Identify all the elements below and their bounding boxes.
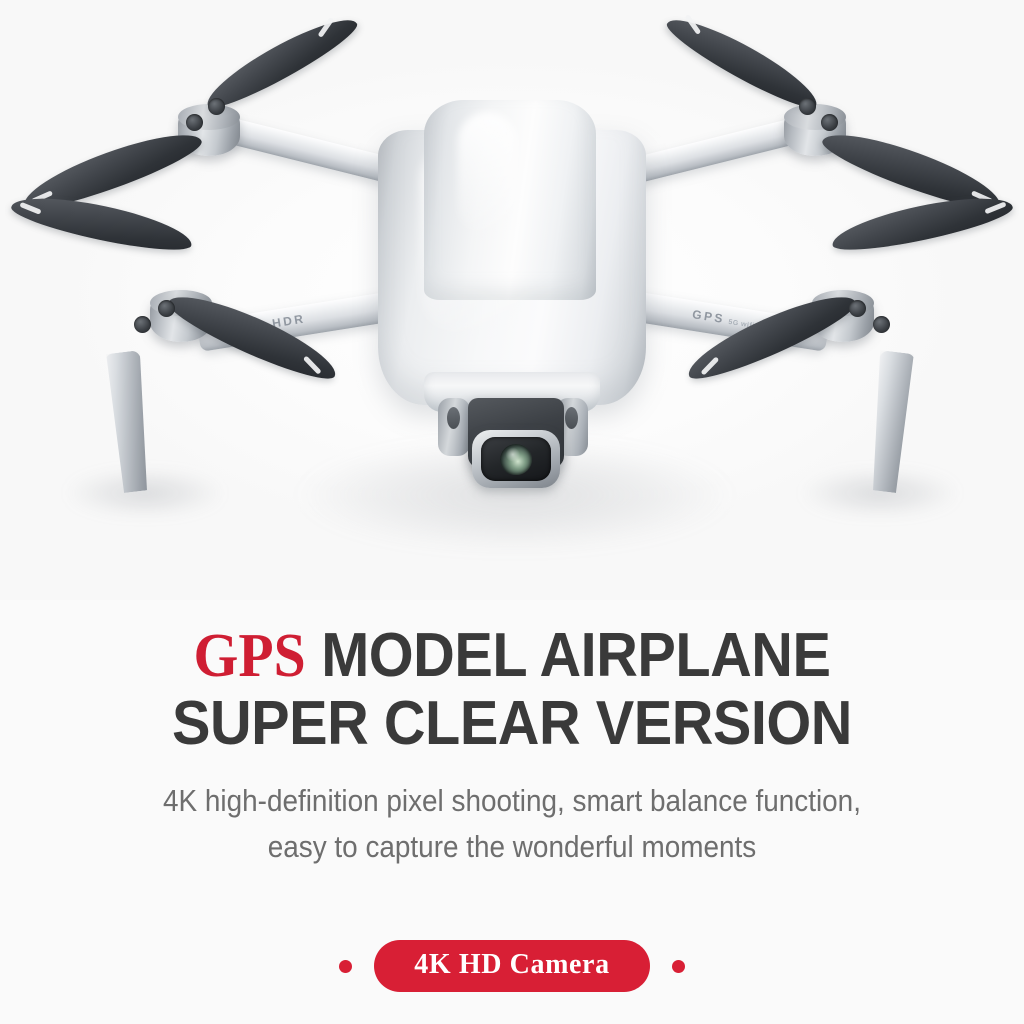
propeller-screw-rear-right-b: [799, 98, 816, 115]
gimbal-pin-right: [565, 407, 578, 429]
blade-tip-stripe: [700, 356, 719, 375]
page-title: GPS MODEL AIRPLANE SUPER CLEAR VERSION: [36, 600, 988, 758]
propeller-screw-front-right-b: [873, 316, 890, 333]
headline-line-1: GPS MODEL AIRPLANE: [36, 600, 988, 690]
propeller-blade-front-left-a: [8, 187, 195, 259]
propeller-screw-front-left-b: [134, 316, 151, 333]
camera-lens-icon: [500, 444, 532, 475]
drone-battery-cover: [424, 100, 596, 300]
headline-line-2: SUPER CLEAR VERSION: [36, 690, 988, 758]
propeller-screw-front-left-a: [158, 300, 175, 317]
propeller-screw-rear-left-a: [186, 114, 203, 131]
headline-line-1-rest: MODEL AIRPLANE: [306, 621, 831, 690]
badge-dot-left: [339, 960, 352, 973]
gimbal-mount-left: [438, 398, 470, 456]
marketing-copy-block: GPS MODEL AIRPLANE SUPER CLEAR VERSION 4…: [0, 600, 1024, 1024]
subtitle-line-2: easy to capture the wonderful moments: [51, 824, 973, 870]
propeller-screw-rear-right-a: [821, 114, 838, 131]
propeller-blade-front-right-a: [828, 187, 1015, 259]
blade-tip-stripe: [318, 17, 335, 38]
brand-word-gps: GPS: [194, 622, 306, 690]
product-banner: HDR GPS5G wifi: [0, 0, 1024, 1024]
propeller-screw-rear-left-b: [208, 98, 225, 115]
propeller-blade-rear-left-b: [199, 7, 363, 117]
badge-dot-right: [672, 960, 685, 973]
blade-tip-stripe: [685, 14, 702, 35]
subtitle-line-1: 4K high-definition pixel shooting, smart…: [51, 778, 973, 824]
product-hero-image: HDR GPS5G wifi: [0, 0, 1024, 600]
gimbal-pin-left: [447, 407, 460, 429]
subtitle-text: 4K high-definition pixel shooting, smart…: [51, 778, 973, 870]
blade-tip-stripe: [984, 201, 1006, 214]
blade-tip-stripe: [19, 202, 41, 215]
blade-tip-stripe: [303, 355, 322, 374]
feature-badge-row: 4K HD Camera: [0, 940, 1024, 992]
propeller-screw-front-right-a: [849, 300, 866, 317]
status-badge: 4K HD Camera: [374, 940, 649, 992]
